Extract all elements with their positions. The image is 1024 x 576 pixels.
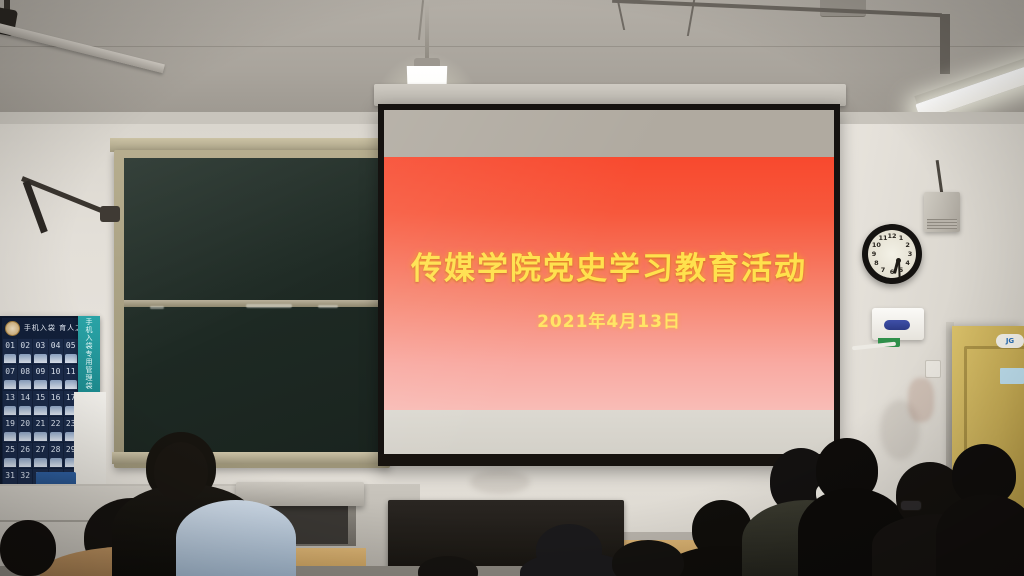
pocket-cell-number: 16 bbox=[51, 391, 61, 402]
pocket-cell: 21 bbox=[33, 417, 47, 442]
clock-numeral: 6 bbox=[887, 268, 897, 276]
pocket-cell: 27 bbox=[33, 443, 47, 468]
wall-mount-plate bbox=[100, 206, 120, 222]
pocket-cell: 20 bbox=[18, 417, 32, 442]
door-sign-text: JG bbox=[1006, 337, 1014, 345]
pocket-cell: 26 bbox=[18, 443, 32, 468]
pocket-cell-number: 05 bbox=[66, 339, 76, 350]
slide-date: 2021年4月13日 bbox=[384, 307, 834, 332]
pocket-cell: 07 bbox=[3, 365, 17, 390]
pocket-cell: 25 bbox=[3, 443, 17, 468]
clock-numeral: 11 bbox=[878, 234, 888, 242]
eyeglasses bbox=[900, 500, 922, 511]
projector-screen-housing bbox=[374, 84, 846, 106]
pocket-cell: 28 bbox=[49, 443, 63, 468]
ceiling-seam bbox=[617, 0, 625, 30]
pocket-cell: 05 bbox=[64, 339, 78, 364]
door-notice bbox=[1000, 368, 1024, 384]
chalk-mark bbox=[246, 304, 292, 308]
pocket-cell: 03 bbox=[33, 339, 47, 364]
pocket-cell-number: 10 bbox=[51, 365, 61, 376]
person-head bbox=[0, 520, 56, 576]
card-reader-badge bbox=[884, 320, 910, 330]
pocket-cell-number: 14 bbox=[20, 391, 30, 402]
pocket-cell-number: 26 bbox=[20, 443, 30, 454]
pocket-cell-number: 13 bbox=[5, 391, 15, 402]
clock-numeral: 3 bbox=[905, 250, 915, 258]
clock-numeral: 8 bbox=[871, 259, 881, 267]
clock-numeral: 9 bbox=[869, 250, 879, 258]
pendant-lamp-rod bbox=[425, 0, 429, 62]
clock-numeral: 2 bbox=[903, 241, 913, 249]
person-shoulders bbox=[176, 500, 296, 576]
pocket-cell: 14 bbox=[18, 391, 32, 416]
clock-numeral: 5 bbox=[896, 266, 906, 274]
clock-center-pin bbox=[896, 258, 901, 263]
ceiling-seam bbox=[0, 46, 1024, 47]
wall-scuff bbox=[908, 378, 934, 422]
pocket-cell-number: 01 bbox=[5, 339, 15, 350]
pocket-cell-number: 19 bbox=[5, 417, 15, 428]
pocket-cell-number: 03 bbox=[36, 339, 46, 350]
speaker-grille bbox=[927, 219, 957, 229]
teal-banner-text: 手机入袋专用管理袋 bbox=[84, 318, 94, 390]
screen-blank-top bbox=[384, 110, 834, 157]
pocket-cell: 01 bbox=[3, 339, 17, 364]
pocket-cell-number: 31 bbox=[5, 469, 15, 480]
wall-panel bbox=[74, 392, 106, 488]
pocket-cell-number: 22 bbox=[51, 417, 61, 428]
pocket-cell: 13 bbox=[3, 391, 17, 416]
classroom-photo: 传媒学院党史学习教育活动 2021年4月13日 手机入袋 育人之窗 010203… bbox=[0, 0, 1024, 576]
person-shoulders bbox=[936, 494, 1024, 576]
wall-socket[interactable] bbox=[925, 360, 941, 378]
pocket-cell: 15 bbox=[33, 391, 47, 416]
pocket-cell-number: 04 bbox=[51, 339, 61, 350]
pocket-cell: 22 bbox=[49, 417, 63, 442]
pocket-cell: 10 bbox=[49, 365, 63, 390]
school-emblem-icon bbox=[5, 321, 20, 336]
chalk-mark bbox=[318, 305, 338, 308]
pocket-cell: 09 bbox=[33, 365, 47, 390]
pocket-cell: 08 bbox=[18, 365, 32, 390]
pocket-cell-number: 27 bbox=[36, 443, 46, 454]
pocket-cell-number: 11 bbox=[66, 365, 76, 376]
clock-face: 121234567891011 bbox=[868, 230, 916, 278]
pocket-cell: 04 bbox=[49, 339, 63, 364]
pocket-cell-number: 07 bbox=[5, 365, 15, 376]
slide-title: 传媒学院党史学习教育活动 bbox=[384, 243, 834, 288]
pocket-cell-number: 25 bbox=[5, 443, 15, 454]
chalk-mark bbox=[150, 306, 164, 309]
pocket-cell-number: 21 bbox=[36, 417, 46, 428]
pocket-cell: 11 bbox=[64, 365, 78, 390]
projector-screen-weight-bar bbox=[378, 454, 840, 466]
projector-screen: 传媒学院党史学习教育活动 2021年4月13日 bbox=[384, 110, 834, 460]
pocket-cell: 02 bbox=[18, 339, 32, 364]
pocket-cell-number: 08 bbox=[20, 365, 30, 376]
person-head bbox=[154, 442, 208, 500]
pocket-cell: 19 bbox=[3, 417, 17, 442]
door-sign: JG bbox=[996, 334, 1024, 348]
pocket-cell-number: 20 bbox=[20, 417, 30, 428]
pocket-cell-number: 02 bbox=[20, 339, 30, 350]
pocket-cell-number: 15 bbox=[36, 391, 46, 402]
ceiling-conduit bbox=[940, 14, 950, 74]
screen-blank-bottom bbox=[384, 410, 834, 456]
pocket-cell-number: 09 bbox=[36, 365, 46, 376]
teal-wall-banner: 手机入袋专用管理袋 bbox=[78, 316, 100, 392]
pocket-cell-number: 32 bbox=[20, 469, 30, 480]
wall-stain bbox=[470, 470, 530, 494]
pocket-cell-number: 28 bbox=[51, 443, 61, 454]
ceiling-seam bbox=[418, 0, 424, 40]
pocket-cell: 16 bbox=[49, 391, 63, 416]
presentation-slide: 传媒学院党史学习教育活动 2021年4月13日 bbox=[384, 157, 834, 410]
wall-clock: 121234567891011 bbox=[862, 224, 922, 284]
